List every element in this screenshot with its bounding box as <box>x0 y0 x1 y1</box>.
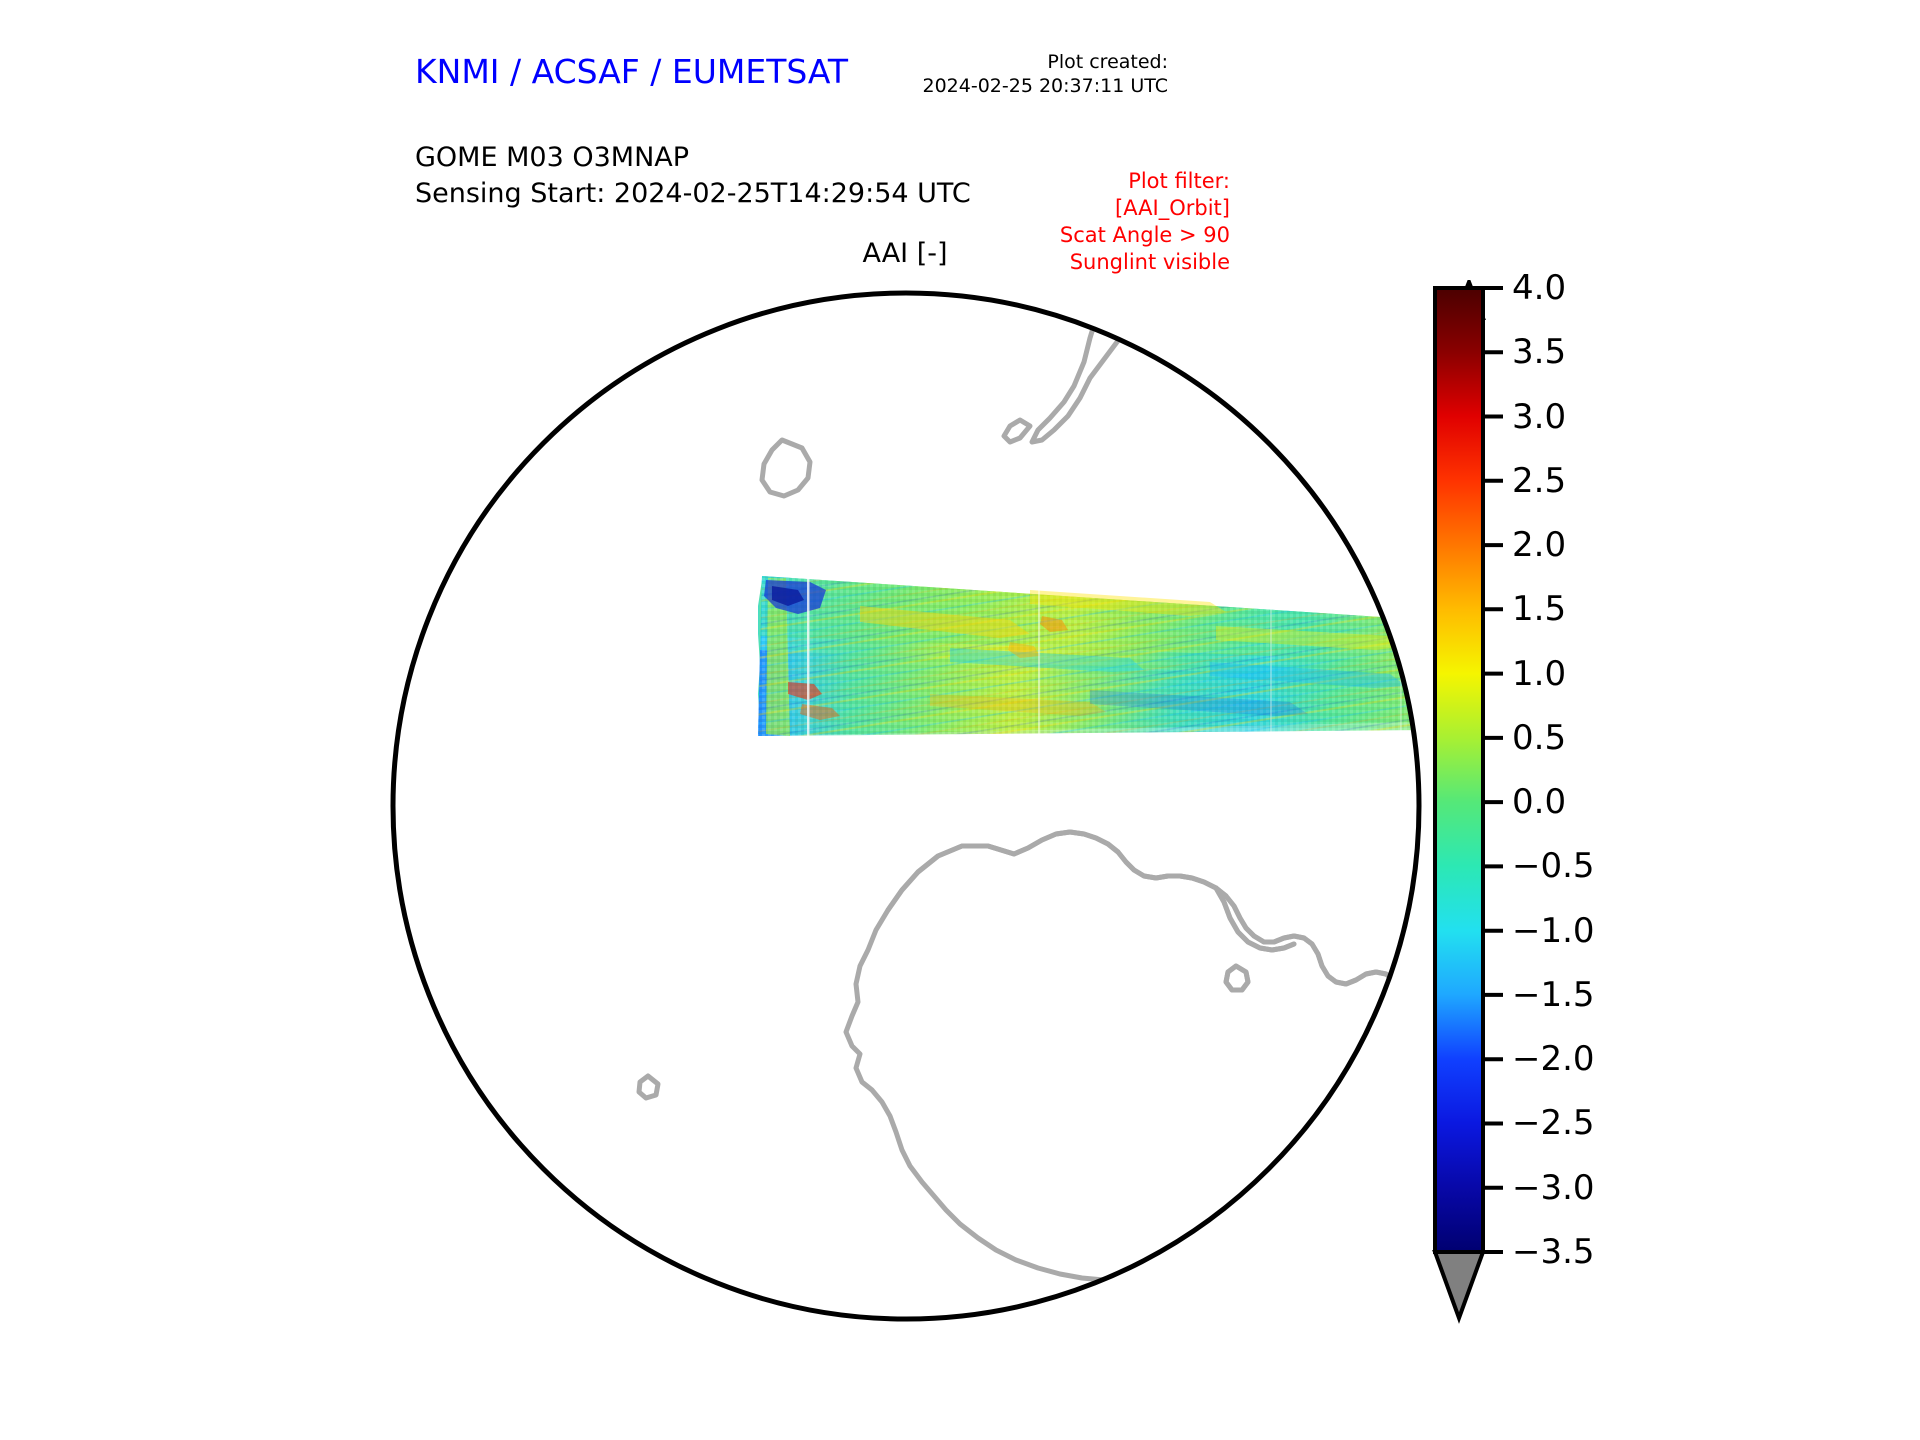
product-name: GOME M03 O3MNAP <box>415 140 971 176</box>
colorbar-gradient-bar <box>1435 288 1483 1252</box>
plot-filter-scat-angle: Scat Angle > 90 <box>1060 222 1230 249</box>
sensing-start: Sensing Start: 2024-02-25T14:29:54 UTC <box>415 176 971 212</box>
colorbar-tick-label: 0.0 <box>1512 782 1566 822</box>
plot-filter-block: Plot filter: [AAI_Orbit] Scat Angle > 90… <box>1060 168 1230 276</box>
colorbar-tick-label: −2.0 <box>1512 1039 1595 1079</box>
colorbar-tick-label: −1.5 <box>1512 975 1595 1015</box>
colorbar-tick-label: −3.5 <box>1512 1232 1595 1272</box>
colorbar-tick-label: 3.5 <box>1512 332 1566 372</box>
colorbar-tick-labels: 4.03.53.02.52.01.51.00.50.0−0.5−1.0−1.5−… <box>1512 280 1692 1350</box>
globe-projection <box>390 290 1422 1322</box>
colorbar-tick-label: 4.0 <box>1512 268 1566 308</box>
colorbar-tick-label: 2.5 <box>1512 461 1566 501</box>
colorbar-tick-label: −0.5 <box>1512 846 1595 886</box>
colorbar-tick-label: 3.0 <box>1512 397 1566 437</box>
colorbar-tick-label: 1.0 <box>1512 654 1566 694</box>
page-title: AAI [-] <box>390 238 1420 269</box>
colorbar[interactable] <box>1430 280 1500 1350</box>
product-info-block: GOME M03 O3MNAP Sensing Start: 2024-02-2… <box>415 140 971 211</box>
colorbar-tick-label: 0.5 <box>1512 718 1566 758</box>
colorbar-tick-label: −3.0 <box>1512 1168 1595 1208</box>
plot-created-block: Plot created: 2024-02-25 20:37:11 UTC <box>923 50 1169 99</box>
globe-disc <box>393 293 1419 1319</box>
plot-filter-name: [AAI_Orbit] <box>1060 195 1230 222</box>
plot-created-label: Plot created: <box>923 50 1169 74</box>
colorbar-tick-label: 2.0 <box>1512 525 1566 565</box>
colorbar-under-arrow <box>1435 1252 1483 1318</box>
colorbar-ticks <box>1483 288 1503 1252</box>
plot-filter-sunglint: Sunglint visible <box>1060 249 1230 276</box>
organisation-header: KNMI / ACSAF / EUMETSAT <box>415 52 848 91</box>
colorbar-graphic <box>1430 280 1520 1350</box>
colorbar-tick-label: −2.5 <box>1512 1103 1595 1143</box>
map-plot-area[interactable] <box>390 290 1422 1322</box>
colorbar-tick-label: 1.5 <box>1512 589 1566 629</box>
colorbar-tick-label: −1.0 <box>1512 911 1595 951</box>
plot-filter-label: Plot filter: <box>1060 168 1230 195</box>
plot-created-timestamp: 2024-02-25 20:37:11 UTC <box>923 74 1169 98</box>
